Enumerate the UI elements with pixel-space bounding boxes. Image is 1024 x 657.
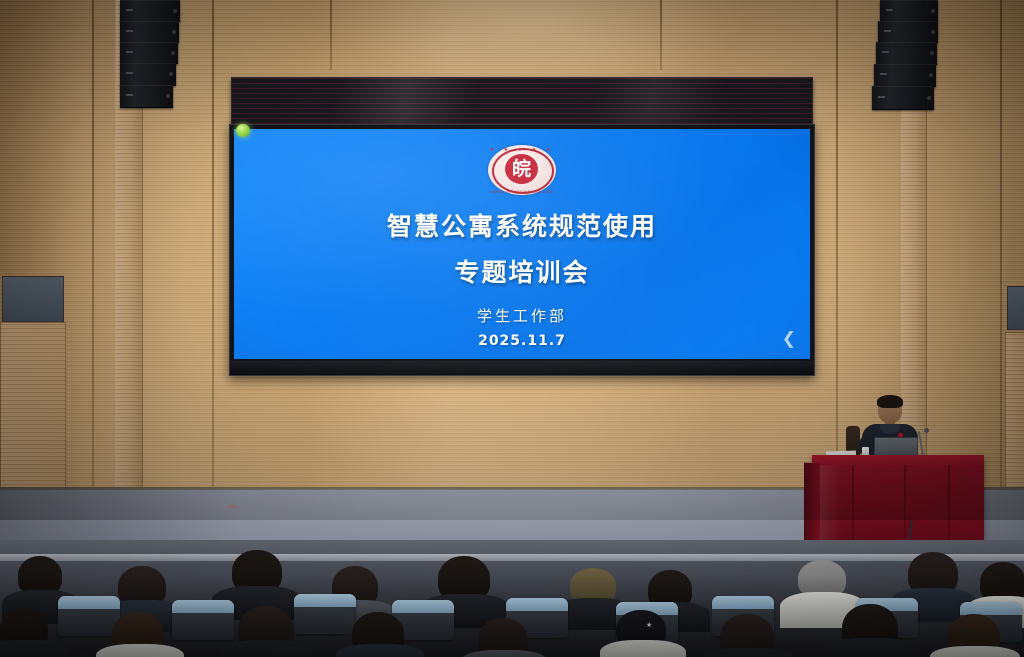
line-array-speaker-left [120,0,182,108]
wall-seam-d [1000,0,1002,492]
speaker-label [882,51,889,53]
speaker-mount-dot [172,30,176,34]
auditorium-seat[interactable] [172,600,234,640]
seat-headrest [172,600,234,613]
speaker-mount-dot [931,30,935,34]
emblem-inner-disc: 皖 [505,154,538,184]
audience-shoulders [600,640,686,657]
led-glass-reflection [232,78,812,126]
speaker-mount-dot [927,96,931,100]
power-indicator-green-icon [236,124,250,137]
speaker-module [120,85,173,108]
cap-star-icon: ★ [646,622,652,629]
audience-shoulders [930,646,1020,657]
speaker-mount-dot [169,72,173,76]
speaker-mount-dot [930,51,934,55]
speaker-module [878,21,938,43]
speaker-module [874,64,936,87]
wall-seam-e [330,0,332,70]
screen-bottom-bezel [230,361,814,375]
speaker-module [120,21,179,43]
seat-headrest [506,598,568,611]
microphone-head-icon [924,428,929,433]
led-banner-panel [231,77,813,127]
slide-title-line1: 智慧公寓系统规范使用 [387,207,657,243]
speaker-label [878,96,885,98]
speaker-label [126,94,133,96]
seat-headrest [294,594,356,607]
wall-seam-f [660,0,662,70]
presenter-hair [877,395,903,408]
speaker-mount-dot [166,94,170,98]
audience-shoulders [336,644,424,657]
speaker-label [884,30,891,32]
speaker-label [126,30,133,32]
line-array-speaker-right [872,0,942,110]
stage-front-rail [0,554,1024,561]
seat-headrest [58,596,120,609]
speaker-mount-dot [929,73,933,77]
door-right[interactable] [1005,332,1024,496]
audience-shoulders [824,638,918,657]
slide-date: 2025.11.7 [478,333,566,349]
speaker-module [120,0,180,22]
speaker-module [120,63,176,86]
seat-headrest [392,600,454,613]
laptop-screen[interactable] [874,437,918,457]
emblem-arc-text: ANHUI VOCATIONAL COLLEGE [488,190,556,194]
speaker-module [876,42,937,65]
audience-shoulders [702,648,794,657]
auditorium-seat[interactable] [294,594,356,634]
audience-shoulders [96,644,184,657]
speaker-label [880,73,887,75]
seated-audience: ★ [0,540,1024,657]
led-display-screen[interactable]: ★ ★ ★ ★ ★ 皖 ANHUI VOCATIONAL COLLEGE 智慧公… [229,124,815,376]
speaker-mount-dot [173,9,177,13]
table-cloth-top [812,455,984,465]
speaker-module [872,86,934,110]
university-emblem: ★ ★ ★ ★ ★ 皖 ANHUI VOCATIONAL COLLEGE [488,145,556,195]
speaker-module [120,42,178,64]
door-left-window [2,276,64,322]
emblem-character: 皖 [512,160,531,179]
speaker-label [126,51,133,53]
audience-shoulders [220,640,314,657]
auditorium-seat[interactable] [58,596,120,636]
speaker-label [886,9,893,11]
slide-title-line2: 专题培训会 [454,253,589,289]
screen-surface: ★ ★ ★ ★ ★ 皖 ANHUI VOCATIONAL COLLEGE 智慧公… [234,129,810,359]
speaker-mount-dot [171,51,175,55]
slide-prev-chevron-icon[interactable]: ❮ [782,330,796,347]
wall-seam-a [92,0,94,492]
auditorium-scene: ★ ★ ★ ★ ★ 皖 ANHUI VOCATIONAL COLLEGE 智慧公… [0,0,1024,657]
wall-seam-c [836,0,838,492]
speaker-label [126,9,133,11]
door-left[interactable] [0,322,66,496]
audience-shoulders [0,640,70,657]
door-right-window [1007,286,1024,330]
seat-headrest [712,596,774,609]
stage-floor-mark [228,505,237,508]
speaker-mount-dot [931,9,935,13]
speaker-label [126,72,133,74]
presentation-slide: ★ ★ ★ ★ ★ 皖 ANHUI VOCATIONAL COLLEGE 智慧公… [234,129,810,359]
seat-headrest [960,602,1022,615]
speaker-module [880,0,938,22]
audience-shoulders [462,650,546,657]
slide-department: 学生工作部 [477,305,567,326]
wall-seam-b [212,0,214,492]
